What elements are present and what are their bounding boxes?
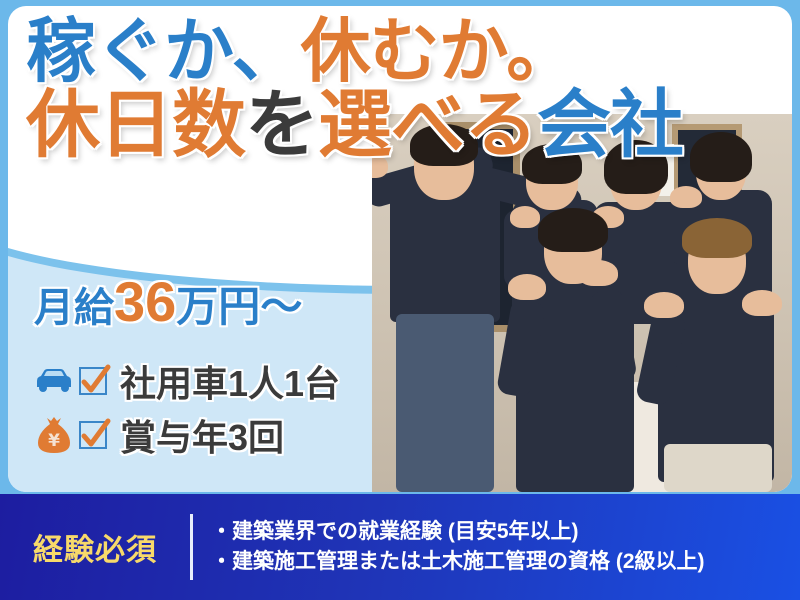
car-icon [32,361,76,401]
salary-unit: 万円 [176,283,260,330]
headline: 稼ぐか、休むか。 休日数を選べる会社 [26,16,786,162]
perk-row: 社用車1人1台 [32,354,340,408]
headline-line-2: 休日数を選べる会社 [26,88,786,162]
requirement-item: ・建築施工管理または土木施工管理の資格 (2級以上) [211,547,705,577]
team-photo [372,114,792,492]
headline-line1-part1: 稼ぐか、 [26,12,301,90]
headline-line2-part2: を [245,83,318,166]
salary-tilde: 〜 [260,283,302,330]
perk-label: 社用車1人1台 [120,355,340,407]
requirements-list: ・建築業界での就業経験 (目安5年以上) ・建築施工管理または土木施工管理の資格… [193,517,705,577]
photo-room-background [372,114,792,492]
experience-required-badge: 経験必須 [0,525,190,569]
headline-line2-part3: 選べる [318,83,537,166]
salary-amount: 36 [114,270,176,333]
money-bag-icon: ¥ [32,415,76,455]
headline-line-1: 稼ぐか、休むか。 [26,16,786,86]
svg-text:¥: ¥ [48,431,60,451]
salary-line: 月給36万円〜 [34,274,302,330]
headline-line2-part1: 休日数 [26,83,245,166]
white-card: 稼ぐか、休むか。 休日数を選べる会社 月給36万円〜 [8,6,792,492]
job-ad-banner: 稼ぐか、休むか。 休日数を選べる会社 月給36万円〜 [0,0,800,600]
headline-line1-part2: 休むか。 [301,12,576,90]
requirement-item: ・建築業界での就業経験 (目安5年以上) [211,517,705,547]
check-mark-icon [76,363,112,399]
headline-line2-part4: 会社 [537,83,683,166]
salary-label: 月給 [34,286,114,330]
perk-row: ¥ 賞与年3回 [32,408,340,462]
requirements-bar: 経験必須 ・建築業界での就業経験 (目安5年以上) ・建築施工管理または土木施工… [0,494,800,600]
perks-list: 社用車1人1台 ¥ 賞与年3回 [32,354,340,462]
perk-label: 賞与年3回 [120,409,284,461]
check-mark-icon [76,417,112,453]
